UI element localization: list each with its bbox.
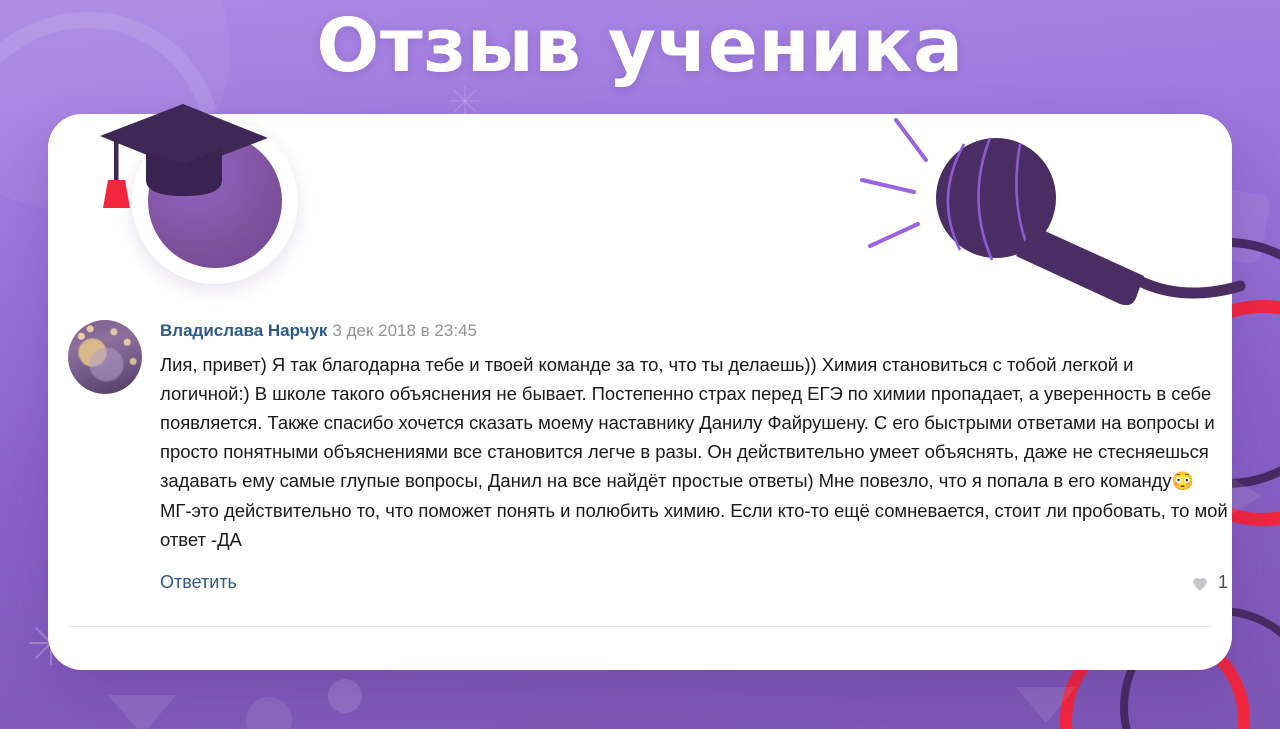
decorative-triangle-bottom-right (1016, 687, 1076, 723)
page-title: Отзыв ученика (0, 8, 1280, 86)
card-divider (68, 626, 1212, 627)
comment-text-part-1: Лия, привет) Я так благодарна тебе и тво… (160, 354, 1215, 491)
decorative-dot-bottom (328, 679, 362, 713)
comment-meta: Владислава Нарчук3 дек 2018 в 23:45 (160, 320, 1228, 342)
comment-block: Владислава Нарчук3 дек 2018 в 23:45 Лия,… (68, 320, 1228, 593)
flushed-face-emoji: 😳 (1172, 471, 1194, 491)
like-count: 1 (1218, 572, 1228, 593)
reply-button[interactable]: Ответить (160, 572, 237, 593)
microphone-icon (848, 108, 1248, 318)
slide-canvas: Отзыв ученика (0, 0, 1280, 729)
decorative-dot-bottom-secondary (246, 697, 292, 729)
comment-text: Лия, привет) Я так благодарна тебе и тво… (160, 350, 1228, 554)
commenter-name[interactable]: Владислава Нарчук (160, 321, 327, 340)
comment-text-part-2: МГ-это действительно то, что поможет пон… (160, 500, 1228, 550)
graduation-avatar-badge (132, 118, 298, 284)
comment-timestamp: 3 дек 2018 в 23:45 (332, 321, 477, 340)
like-counter[interactable]: 1 (1190, 572, 1228, 593)
graduation-cap-icon (88, 96, 278, 216)
commenter-avatar[interactable] (68, 320, 142, 394)
heart-icon[interactable] (1190, 573, 1210, 593)
comment-actions: Ответить 1 (160, 572, 1228, 593)
decorative-triangle-bottom-left (108, 695, 176, 729)
